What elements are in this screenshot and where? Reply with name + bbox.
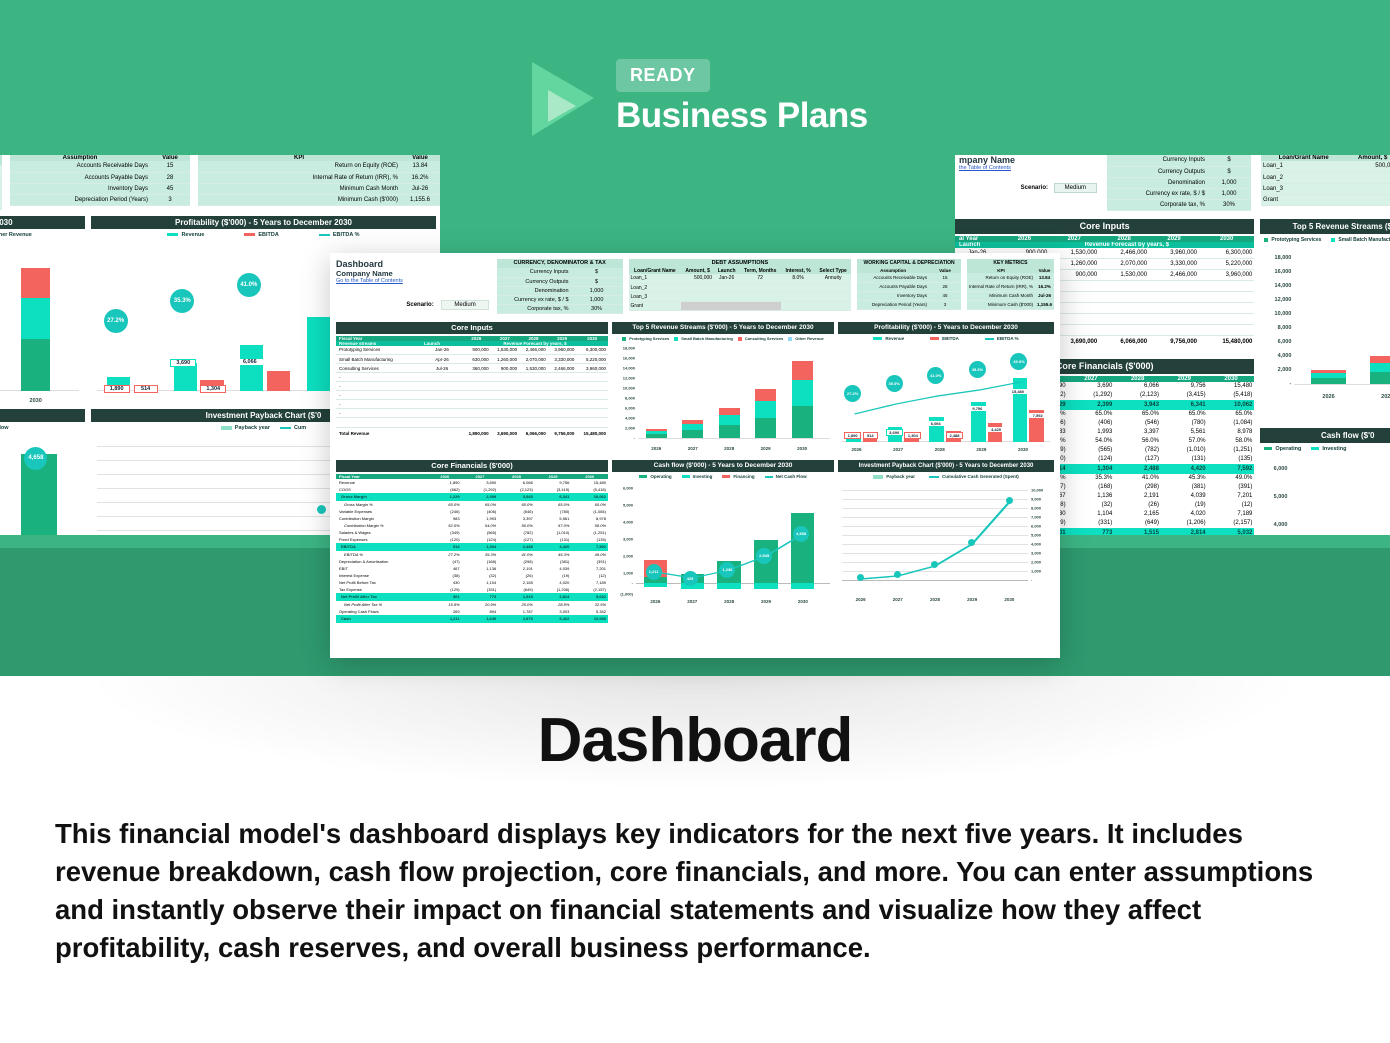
y-tick: 4,000: [623, 519, 636, 524]
bg-profitability-title: Profitability ($'000) - 5 Years to Decem…: [91, 216, 436, 229]
fin-value: (782): [498, 529, 535, 536]
fin-label: Interest Expense: [336, 572, 428, 579]
line-point-label: 49.0%: [1010, 353, 1027, 370]
fin-value: 15,480: [571, 479, 608, 486]
stream-name: Consulting Services: [336, 364, 422, 373]
fin-value: 54.0%: [462, 522, 499, 529]
fin-label: Gross Margin %: [336, 501, 428, 508]
legend-label: Net Cash Flow: [776, 474, 807, 479]
bg-core-inputs-title: Core Inputs: [955, 219, 1254, 234]
wc-cell[interactable]: 45: [929, 291, 961, 300]
x-tick: 2030: [797, 446, 807, 451]
fin-value: (349): [428, 529, 462, 536]
wc-cell[interactable]: 3: [929, 300, 961, 309]
currency-row-value[interactable]: 1,000: [571, 286, 623, 295]
line-point-label: 27.2%: [844, 385, 861, 402]
cash-flow-chart-plot: 6,000 5,000 4,000 3,000 2,000 1,000 - (1…: [636, 484, 830, 606]
table-row[interactable]: Grant: [629, 301, 852, 310]
fin-value: (662): [428, 486, 462, 493]
fin-value: 2,399: [462, 493, 499, 501]
fin-value: 27.2%: [428, 551, 462, 558]
legend-label: Financing: [733, 474, 754, 479]
fin-value: 28.8%: [535, 601, 572, 608]
fin-value: 983: [428, 515, 462, 522]
stream-name: -: [336, 373, 422, 382]
fin-value: (246): [428, 508, 462, 515]
table-row[interactable]: Loan_1 500,000 Jan-26 72 8.0% Annuity: [629, 274, 852, 283]
kpi-cell: Return on Equity (ROE): [967, 273, 1035, 282]
table-row: Gross Margin1,2292,3993,9436,34110,062: [336, 493, 608, 501]
stream-value[interactable]: 360,000: [462, 364, 491, 373]
fin-value: 5,422: [535, 615, 572, 623]
fin-value: 1,787: [498, 608, 535, 615]
brand-title: Business Plans: [616, 96, 868, 136]
line-point-label: 1,211: [646, 564, 662, 580]
debt-cell: Loan_3: [629, 292, 682, 301]
stream-value[interactable]: 2,466,000: [548, 364, 577, 373]
fin-value: (5,418): [571, 486, 608, 493]
wc-cell: Inventory Days: [857, 291, 929, 300]
y-tick: 9,000: [1028, 496, 1041, 501]
table-row: Depreciation & Amortisation(47)(168)(298…: [336, 558, 608, 565]
y-tick: 2,000: [625, 425, 638, 430]
y-tick: 16,000: [623, 355, 638, 360]
stream-name: Prototyping Services: [336, 346, 422, 355]
ready-badge: READY: [616, 59, 710, 92]
section-headline: Dashboard: [0, 705, 1390, 776]
fin-value: (135): [571, 536, 608, 543]
fin-label: EBITDA: [336, 543, 428, 551]
kpi-cell: Internal Rate of Return (IRR), %: [967, 282, 1035, 291]
kpi-cell: Minimum Cash ($'000): [967, 300, 1035, 309]
data-point: [931, 561, 938, 568]
debt-cell: Grant: [629, 301, 682, 310]
fin-value: 5,342: [571, 608, 608, 615]
currency-row-label: Denomination: [497, 286, 571, 295]
stream-value[interactable]: 1,260,000: [491, 355, 520, 364]
stream-name: -: [336, 391, 422, 400]
fin-value: (129): [428, 586, 462, 593]
wc-cell[interactable]: 28: [929, 282, 961, 291]
total-revenue-value: 3,690,000: [491, 428, 520, 440]
x-tick: 2030: [798, 599, 808, 604]
fin-value: 65.0%: [498, 501, 535, 508]
fin-value: 2,488: [498, 543, 535, 551]
fin-value: (127): [498, 536, 535, 543]
table-row: EBITDA %27.2%35.3%41.0%45.3%49.0%: [336, 551, 608, 558]
bg-right-cashflow-title: Cash flow ($'0: [1260, 428, 1390, 443]
fin-value: 65.0%: [462, 501, 499, 508]
fin-value: (124): [462, 536, 499, 543]
bg-right-cashflow-plot: 6,000 5,000 4,000 3,000 2,000 1,211 429: [1290, 459, 1390, 536]
wc-cell: Depreciation Period (Years): [857, 300, 929, 309]
fin-value: (1,084): [571, 508, 608, 515]
fin-value: 35.3%: [462, 551, 499, 558]
fin-value: 9,756: [535, 479, 572, 486]
fin-label: Salaries & Wages: [336, 529, 428, 536]
net-cash-flow-line: [636, 484, 830, 606]
debt-cell: 500,000: [681, 274, 714, 283]
fin-value: 32.5%: [571, 601, 608, 608]
payback-chart-title: Investment Payback Chart ($'000) - 5 Yea…: [838, 460, 1054, 472]
y-tick: 1,000: [623, 570, 636, 575]
stream-value[interactable]: 3,960,000: [576, 364, 608, 373]
x-tick: 2026: [856, 597, 866, 602]
top5-chart-plot: 18,000 16,000 14,000 12,000 10,000 8,000…: [638, 346, 830, 454]
stream-launch[interactable]: Jan-26: [422, 346, 462, 355]
fin-label: Cash: [336, 615, 428, 623]
fin-value: (1,206): [535, 586, 572, 593]
stream-value[interactable]: 3,960,000: [548, 346, 577, 355]
fin-value: (26): [498, 572, 535, 579]
kpi-cell: Minimum Cash Month: [967, 291, 1035, 300]
table-row[interactable]: Loan_3: [629, 292, 852, 301]
table-row[interactable]: -: [336, 409, 608, 418]
fin-value: 3,003: [535, 608, 572, 615]
currency-row-label: Currency Inputs: [497, 268, 571, 277]
fin-value: 4,020: [535, 579, 572, 586]
cash-flow-chart[interactable]: Cash flow ($'000) - 5 Years to December …: [612, 460, 834, 623]
fin-value: 894: [462, 608, 499, 615]
fin-value: (47): [428, 558, 462, 565]
wc-panel-title: WORKING CAPITAL & DEPRECIATION: [857, 259, 961, 268]
stream-value[interactable]: 2,070,000: [519, 355, 548, 364]
fin-value: (38): [428, 572, 462, 579]
stream-value[interactable]: 1,530,000: [519, 364, 548, 373]
stream-value[interactable]: 5,220,000: [576, 355, 608, 364]
stream-name: -: [336, 382, 422, 391]
stream-value[interactable]: 2,466,000: [519, 346, 548, 355]
fin-label: Variable Expenses: [336, 508, 428, 515]
legend-label: Other Revenue: [795, 336, 823, 341]
debt-cell: 8.0%: [781, 274, 815, 283]
fin-value: 2,876: [498, 615, 535, 623]
fin-value: 1,640: [462, 615, 499, 623]
fin-value: (1,251): [571, 529, 608, 536]
debt-col-header: Interest, %: [781, 268, 815, 274]
fin-label: Depreciation & Amortisation: [336, 558, 428, 565]
scenario-label: Scenario:: [406, 302, 433, 308]
y-tick: 4,000: [1028, 541, 1041, 546]
kpi-panel-title: KEY METRICS: [967, 259, 1054, 268]
table-row[interactable]: Loan_2: [629, 283, 852, 292]
fin-value: (298): [498, 558, 535, 565]
legend-label: Operating: [650, 474, 671, 479]
y-tick: 2,000: [623, 553, 636, 558]
fin-value: 10,062: [571, 493, 608, 501]
profitability-chart[interactable]: Profitability ($'000) - 5 Years to Decem…: [838, 322, 1054, 454]
x-tick: 2028: [724, 446, 734, 451]
stream-value[interactable]: 630,000: [462, 355, 491, 364]
total-revenue-value: 9,756,000: [548, 428, 577, 440]
fin-value: (131): [535, 536, 572, 543]
scenario-select[interactable]: Medium: [441, 300, 488, 310]
table-row: Operating Cash Flows2698941,7873,0035,34…: [336, 608, 608, 615]
total-revenue-value: 15,480,000: [576, 428, 608, 440]
fin-value: 1,890: [428, 479, 462, 486]
data-point: [857, 574, 864, 581]
fin-value: 467: [428, 565, 462, 572]
x-tick: 2030: [1004, 597, 1014, 602]
fin-value: 269: [428, 608, 462, 615]
core-inputs-title: Core Inputs: [336, 322, 608, 334]
fin-value: 6,341: [535, 493, 572, 501]
y-tick: 5,000: [623, 502, 636, 507]
wc-cell[interactable]: 15: [929, 273, 961, 282]
bg-right-top5-title: Top 5 Revenue Streams ($'00: [1260, 219, 1390, 234]
payback-chart-plot: 10,000 9,000 8,000 7,000 6,000 5,000 4,0…: [842, 484, 1028, 606]
table-row: Gross Margin %65.0%65.0%65.0%65.0%65.0%: [336, 501, 608, 508]
x-tick: 2029: [976, 447, 986, 452]
fin-label: EBITDA %: [336, 551, 428, 558]
x-tick: 2026: [651, 446, 661, 451]
table-row: Cash1,2111,6402,8765,42210,080: [336, 615, 608, 623]
currency-row-value[interactable]: 1,000: [571, 295, 623, 304]
fin-value: 430: [428, 579, 462, 586]
y-tick: 1,000: [1028, 568, 1041, 573]
debt-cell: Loan_1: [629, 274, 682, 283]
fin-value: 45.3%: [535, 551, 572, 558]
fin-value: 1,136: [462, 565, 499, 572]
wc-cell: Accounts Receivable Days: [857, 273, 929, 282]
debt-col-header: Select Type: [815, 268, 851, 274]
debt-cell: Annuity: [815, 274, 851, 283]
y-tick: 18,000: [623, 345, 638, 350]
fin-label: Gross Margin: [336, 493, 428, 501]
legend-label: EBITDA: [942, 336, 959, 341]
fin-value: 7,189: [571, 579, 608, 586]
stream-launch[interactable]: Jul-26: [422, 364, 462, 373]
bg-cashflow-plot: 1,211 429 1,236 2,545 4,658 2026 2027 20…: [0, 438, 79, 536]
main-dashboard-sheet[interactable]: Dashboard Company Name Go to the Table o…: [330, 253, 1060, 658]
company-name: Company Name: [336, 269, 491, 278]
x-tick: 2027: [893, 597, 903, 602]
x-tick: 2026: [852, 447, 862, 452]
x-tick: 2028: [724, 599, 734, 604]
fin-value: 20.9%: [462, 601, 499, 608]
profitability-chart-legend: Revenue EBITDA EBITDA %: [838, 334, 1054, 344]
fin-value: (1,010): [535, 529, 572, 536]
payback-chart-legend: Payback year Cumulative Cash Generated (…: [838, 472, 1054, 482]
y-tick: 10,000: [623, 385, 638, 390]
stream-value[interactable]: 900,000: [462, 346, 491, 355]
stream-value[interactable]: 1,530,000: [491, 346, 520, 355]
fin-label: Net Profit Before Tax: [336, 579, 428, 586]
y-tick: 4,000: [625, 415, 638, 420]
profitability-chart-plot: 1,890 514 3,690 1,304 6,066 2,488 9,756 …: [842, 346, 1050, 454]
fin-value: 57.0%: [535, 522, 572, 529]
fin-value: 58.0%: [571, 522, 608, 529]
fin-value: (1,292): [462, 486, 499, 493]
fin-value: 1,229: [428, 493, 462, 501]
bg-profitability-legend: Revenue EBITDA EBITDA %: [91, 229, 436, 241]
table-row[interactable]: Consulting Services Jul-26 360,000 900,0…: [336, 364, 608, 373]
table-row[interactable]: -: [336, 400, 608, 409]
table-row: EBITDA5141,3042,4884,4207,592: [336, 543, 608, 551]
fin-value: 3,943: [498, 493, 535, 501]
total-revenue-label: Total Revenue: [336, 428, 422, 440]
table-row[interactable]: -: [336, 391, 608, 400]
table-row: Revenue1,8903,6906,0669,75615,480: [336, 479, 608, 486]
fin-label: COGS: [336, 486, 428, 493]
fin-value: 1,515: [498, 593, 535, 601]
fin-value: (120): [428, 536, 462, 543]
legend-label: Revenue: [885, 336, 904, 341]
bg-right-top5-legend: Prototyping Services Small Batch Manufac…: [1260, 234, 1390, 246]
x-tick: 2029: [761, 599, 771, 604]
debt-col-header: Launch: [714, 268, 739, 274]
fin-value: 1,993: [462, 515, 499, 522]
top5-chart-legend: Prototyping Services Small Batch Manufac…: [612, 334, 834, 344]
currency-row-value[interactable]: $: [571, 268, 623, 277]
fin-value: (649): [498, 586, 535, 593]
table-row[interactable]: Small Batch Manufacturing Apr-26 630,000…: [336, 355, 608, 364]
y-tick: 7,000: [1028, 514, 1041, 519]
fin-value: 2,165: [498, 579, 535, 586]
fin-label: Contribution Margin %: [336, 522, 428, 529]
line-point-label: 429: [683, 571, 698, 586]
fin-value: 773: [462, 593, 499, 601]
debt-panel-title: DEBT ASSUMPTIONS: [629, 259, 852, 268]
fin-value: (546): [498, 508, 535, 515]
fin-value: 41.0%: [498, 551, 535, 558]
y-tick: 3,000: [623, 536, 636, 541]
legend-label: Small Batch Manufacturing: [681, 336, 733, 341]
kpi-cell: Jul-26: [1035, 291, 1054, 300]
x-tick: 2027: [893, 447, 903, 452]
table-row[interactable]: Prototyping Services Jan-26 900,000 1,53…: [336, 346, 608, 355]
line-point-label: 45.3%: [969, 361, 986, 378]
investment-payback-chart[interactable]: Investment Payback Chart ($'000) - 5 Yea…: [838, 460, 1054, 623]
data-point: [1006, 497, 1013, 504]
fin-label: EBIT: [336, 565, 428, 572]
table-row: Net Profit After Tax %15.9%20.9%25.0%28.…: [336, 601, 608, 608]
table-row[interactable]: -: [336, 382, 608, 391]
fin-value: 1,104: [462, 579, 499, 586]
total-revenue-value: 6,066,000: [519, 428, 548, 440]
fin-value: 2,814: [535, 593, 572, 601]
fin-value: 52.0%: [428, 522, 462, 529]
kpi-cell: 16.2%: [1035, 282, 1054, 291]
currency-row-value[interactable]: 30%: [571, 304, 623, 313]
kpi-cell: 13.84: [1035, 273, 1054, 282]
fin-value: 2,191: [498, 565, 535, 572]
stream-value[interactable]: 3,330,000: [548, 355, 577, 364]
table-row: Contribution Margin9831,9933,3975,5618,9…: [336, 515, 608, 522]
stream-launch[interactable]: Apr-26: [422, 355, 462, 364]
play-triangle-icon: [528, 60, 598, 138]
y-tick: -: [1028, 577, 1032, 582]
top5-chart-title: Top 5 Revenue Streams ($'000) - 5 Years …: [612, 322, 834, 334]
table-row: Net Profit After Tax3017731,5152,8145,03…: [336, 593, 608, 601]
fin-value: 514: [428, 543, 462, 551]
fin-value: 56.0%: [498, 522, 535, 529]
y-tick: 14,000: [623, 365, 638, 370]
kpi-cell: 1,155.6: [1035, 300, 1054, 309]
cash-flow-chart-legend: Operating Investing Financing Net Cash F…: [612, 472, 834, 482]
bg-cashflow-title: Cash flow ($'000) - 5 Years to December …: [0, 409, 85, 422]
legend-label: Investing: [693, 474, 713, 479]
stream-name: -: [336, 400, 422, 409]
bg-right-top5-plot: 18,000 16,000 14,000 12,000 10,000 8,000…: [1294, 250, 1390, 410]
fin-value: 7,592: [571, 543, 608, 551]
fin-label: Net Profit After Tax %: [336, 601, 428, 608]
x-tick: 2028: [930, 597, 940, 602]
table-row: Tax Expense(129)(331)(649)(1,206)(2,157): [336, 586, 608, 593]
fin-value: 4,420: [535, 543, 572, 551]
top5-revenue-chart[interactable]: Top 5 Revenue Streams ($'000) - 5 Years …: [612, 322, 834, 454]
y-tick: 6,000: [623, 485, 636, 490]
wc-cell: Accounts Payable Days: [857, 282, 929, 291]
y-tick: 8,000: [1028, 505, 1041, 510]
debt-col-header: Term, Months: [739, 268, 781, 274]
bg-top5-plot: 2026 2027 2028 2029 2030: [0, 245, 79, 405]
currency-row-label: Corporate tax, %: [497, 304, 571, 313]
fin-label: Fixed Expenses: [336, 536, 428, 543]
table-row: Interest Expense(38)(32)(26)(19)(12): [336, 572, 608, 579]
fin-value: 65.0%: [428, 501, 462, 508]
fin-value: 7,201: [571, 565, 608, 572]
y-tick: 6,000: [1028, 523, 1041, 528]
bg-top5-title: Revenue Streams ($'000) - 5 Years to Dec…: [0, 216, 85, 229]
fin-value: (565): [462, 529, 499, 536]
legend-label: Prototyping Services: [629, 336, 669, 341]
fin-label: Net Profit After Tax: [336, 593, 428, 601]
stream-value[interactable]: 6,300,000: [576, 346, 608, 355]
fin-value: (2,157): [571, 586, 608, 593]
table-row: Fixed Expenses(120)(124)(127)(131)(135): [336, 536, 608, 543]
total-revenue-value: 1,890,000: [462, 428, 491, 440]
line-point-label: 1,236: [719, 562, 735, 578]
fin-value: (331): [462, 586, 499, 593]
bg-cashflow-legend: Operating Investing Financing Net Cash F…: [0, 422, 85, 434]
fin-value: (780): [535, 508, 572, 515]
fin-value: 10,080: [571, 615, 608, 623]
fin-value: 65.0%: [535, 501, 572, 508]
fin-value: 4,039: [535, 565, 572, 572]
fin-value: 8,978: [571, 515, 608, 522]
fin-value: 15.9%: [428, 601, 462, 608]
line-point-label: 2,545: [756, 548, 772, 564]
x-tick: 2027: [688, 446, 698, 451]
toc-link[interactable]: Go to the Table of Contents: [336, 278, 491, 284]
table-row: COGS(662)(1,292)(2,123)(3,415)(5,418): [336, 486, 608, 493]
table-row: Contribution Margin %52.0%54.0%56.0%57.0…: [336, 522, 608, 529]
fin-value: (3,415): [535, 486, 572, 493]
currency-row-value[interactable]: $: [571, 277, 623, 286]
table-row: Variable Expenses(246)(406)(546)(780)(1,…: [336, 508, 608, 515]
fin-value: 5,561: [535, 515, 572, 522]
currency-panel-title: CURRENCY, DENOMINATOR & TAX: [497, 259, 623, 268]
stream-value[interactable]: 900,000: [491, 364, 520, 373]
x-tick: 2029: [761, 446, 771, 451]
fin-value: 6,066: [498, 479, 535, 486]
debt-col-header: Amount, $: [681, 268, 714, 274]
y-tick: 8,000: [625, 395, 638, 400]
fin-value: 5,032: [571, 593, 608, 601]
fin-value: 1,304: [462, 543, 499, 551]
y-tick: 6,000: [625, 405, 638, 410]
fin-value: 3,690: [462, 479, 499, 486]
fin-value: 1,211: [428, 615, 462, 623]
table-row[interactable]: -: [336, 373, 608, 382]
fin-value: 65.0%: [571, 501, 608, 508]
line-point-label: 35.3%: [886, 375, 903, 392]
stream-name: Small Batch Manufacturing: [336, 355, 422, 364]
fin-value: (168): [462, 558, 499, 565]
legend-label: Payback year: [886, 474, 915, 479]
legend-label: EBITDA %: [997, 336, 1019, 341]
